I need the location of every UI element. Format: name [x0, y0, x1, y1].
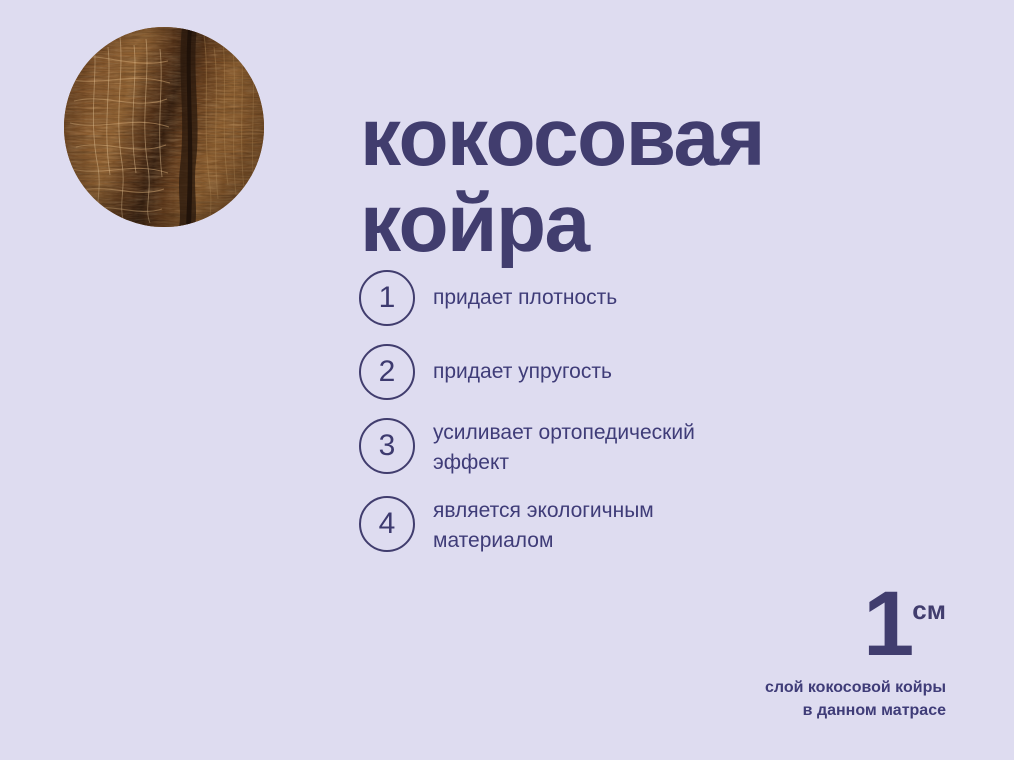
measurement-unit: см — [912, 595, 946, 625]
measurement-value-group: 1см — [686, 578, 946, 670]
list-item: 3 усиливает ортопедический эффект — [359, 418, 819, 478]
measurement-number: 1 — [863, 573, 912, 675]
list-item-label: придает плотность — [433, 283, 617, 313]
page-title: кокосовая койра — [360, 95, 960, 267]
list-item-number-badge: 3 — [359, 418, 415, 474]
list-item: 4 является экологичным материалом — [359, 496, 819, 556]
list-item-number-badge: 1 — [359, 270, 415, 326]
slide-root: кокосовая койра 1 придает плотность 2 пр… — [0, 0, 1014, 760]
measurement-caption: слой кокосовой койры в данном матрасе — [686, 676, 946, 722]
list-item-number: 4 — [379, 509, 396, 539]
coir-fiber-photo — [64, 27, 264, 227]
list-item-label: усиливает ортопедический эффект — [433, 418, 695, 478]
coir-photo-circle — [64, 27, 264, 227]
list-item-label: является экологичным материалом — [433, 496, 654, 556]
list-item: 1 придает плотность — [359, 270, 819, 326]
list-item-number: 1 — [379, 283, 396, 313]
list-item: 2 придает упругость — [359, 344, 819, 400]
benefits-list: 1 придает плотность 2 придает упругость … — [359, 270, 819, 574]
measurement-callout: 1см слой кокосовой койры в данном матрас… — [686, 578, 946, 722]
list-item-number: 3 — [379, 431, 396, 461]
list-item-number-badge: 2 — [359, 344, 415, 400]
list-item-number-badge: 4 — [359, 496, 415, 552]
list-item-number: 2 — [379, 357, 396, 387]
list-item-label: придает упругость — [433, 357, 612, 387]
